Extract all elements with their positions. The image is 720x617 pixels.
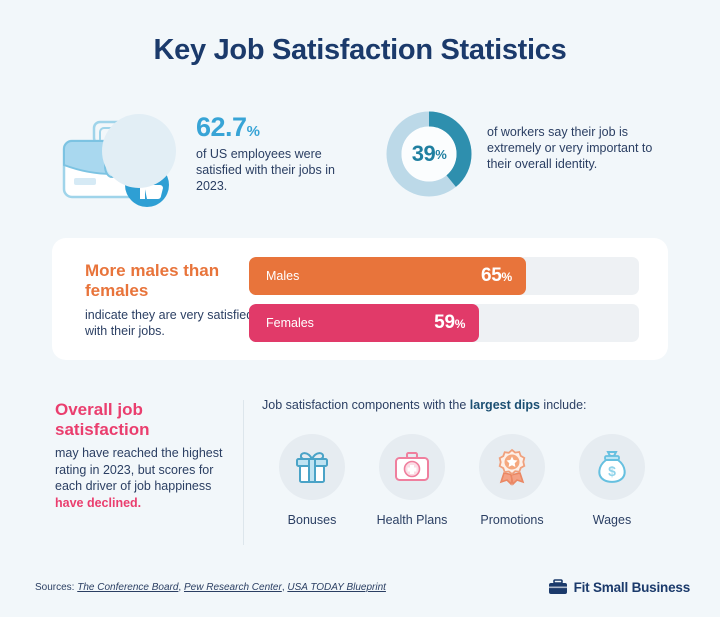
gender-card-heading-block: More males than females indicate they ar…: [85, 261, 265, 339]
components-intro-part1: Job satisfaction components with the: [262, 398, 470, 412]
source-link-usa-today[interactable]: USA TODAY Blueprint: [287, 582, 386, 593]
component-promotions: Promotions: [462, 434, 562, 527]
briefcase-thumbs-up-icon: [50, 108, 180, 208]
gender-card-subtitle: indicate they are very satisfied with th…: [85, 307, 265, 339]
employees-stat-description: of US employees were satisfied with thei…: [196, 146, 346, 194]
component-label-health-plans: Health Plans: [362, 513, 462, 527]
vertical-divider: [243, 400, 244, 545]
overall-satisfaction-body: may have reached the highest rating in 2…: [55, 445, 230, 511]
sources-label: Sources:: [35, 582, 74, 593]
sources-line: Sources: The Conference Board, Pew Resea…: [35, 582, 386, 593]
component-label-promotions: Promotions: [462, 513, 562, 527]
decorative-blob: [102, 114, 176, 188]
gender-card-title: More males than females: [85, 261, 265, 301]
page-title: Key Job Satisfaction Statistics: [0, 34, 720, 67]
overall-body-highlight: have declined.: [55, 496, 141, 510]
brand-name: Fit Small Business: [574, 580, 690, 595]
svg-text:$: $: [608, 463, 616, 479]
gift-icon: [279, 434, 345, 500]
bar-fill-males: Males 65%: [249, 257, 526, 295]
bar-value-males: 65%: [481, 265, 512, 287]
infographic-root: Key Job Satisfaction Statistics 62.7% of…: [0, 0, 720, 617]
gender-comparison-card: More males than females indicate they ar…: [52, 238, 668, 360]
bar-label-males: Males: [266, 269, 299, 283]
employees-stat-value: 62.7%: [196, 114, 346, 141]
components-intro-part2: include:: [540, 398, 587, 412]
briefcase-icon: [548, 579, 568, 595]
footer: Sources: The Conference Board, Pew Resea…: [0, 578, 720, 606]
component-wages: $ Wages: [562, 434, 662, 527]
components-intro: Job satisfaction components with the lar…: [262, 398, 662, 412]
identity-donut-chart: 39%: [383, 108, 475, 200]
award-ribbon-icon: [479, 434, 545, 500]
stats-row: 62.7% of US employees were satisfied wit…: [0, 100, 720, 210]
money-bag-icon: $: [579, 434, 645, 500]
component-label-bonuses: Bonuses: [262, 513, 362, 527]
components-intro-bold: largest dips: [470, 398, 540, 412]
overall-satisfaction-title: Overall job satisfaction: [55, 400, 230, 440]
source-link-conference-board[interactable]: The Conference Board: [77, 582, 178, 593]
component-label-wages: Wages: [562, 513, 662, 527]
overall-satisfaction-block: Overall job satisfaction may have reache…: [55, 400, 230, 511]
identity-donut-value: 39%: [383, 108, 475, 200]
components-icon-grid: Bonuses Health Plans: [262, 434, 662, 527]
brand-logo[interactable]: Fit Small Business: [548, 579, 690, 595]
components-block: Job satisfaction components with the lar…: [262, 398, 662, 527]
bar-label-females: Females: [266, 316, 314, 330]
component-bonuses: Bonuses: [262, 434, 362, 527]
bar-track-females: Females 59%: [249, 304, 639, 342]
first-aid-kit-icon: [379, 434, 445, 500]
source-link-pew-research[interactable]: Pew Research Center: [184, 582, 282, 593]
bar-fill-females: Females 59%: [249, 304, 479, 342]
bar-track-males: Males 65%: [249, 257, 639, 295]
employees-stat: 62.7% of US employees were satisfied wit…: [196, 114, 346, 194]
overall-body-text: may have reached the highest rating in 2…: [55, 446, 222, 493]
identity-stat-description: of workers say their job is extremely or…: [487, 124, 667, 172]
component-health-plans: Health Plans: [362, 434, 462, 527]
bar-value-females: 59%: [434, 312, 465, 334]
gender-bar-chart: Males 65% Females 59%: [249, 257, 639, 351]
